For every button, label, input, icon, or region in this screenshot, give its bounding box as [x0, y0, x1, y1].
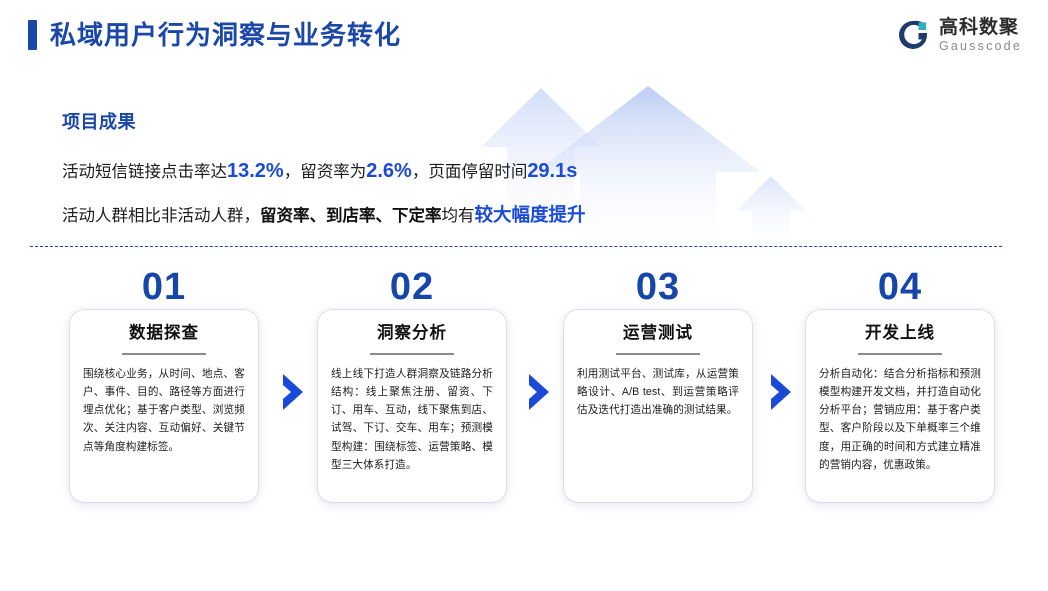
logo-text-block: 高科数聚 Gausscode — [939, 18, 1022, 53]
result-line-2-metrics: 留资率、到店率、下定率 — [260, 207, 442, 225]
step-rule-03 — [616, 353, 700, 355]
result-line-2-seg1: 活动人群相比非活动人群， — [62, 207, 260, 225]
step-card-body-04[interactable]: 开发上线 分析自动化：结合分析指标和预测模型构建开发文档，并打造自动化分析平台；… — [806, 310, 994, 502]
step-title-02: 洞察分析 — [331, 324, 493, 344]
result-line-2-seg2: 均有 — [442, 207, 475, 225]
slide-header: 私域用户行为洞察与业务转化 高科数聚 Gausscode — [0, 0, 1048, 76]
step-number-02: 02 — [318, 268, 506, 306]
metric-dwell-time: 29.1s — [527, 160, 577, 182]
chevron-right-icon-1 — [280, 372, 306, 412]
step-number-04: 04 — [806, 268, 994, 306]
step-title-01: 数据探查 — [83, 324, 245, 344]
process-steps: 01 数据探查 围绕核心业务，从时间、地点、客户、事件、目的、路径等方面进行埋点… — [0, 268, 1048, 518]
step-card-body-03[interactable]: 运营测试 利用测试平台、测试库，从运营策略设计、A/B test、到运营策略评估… — [564, 310, 752, 502]
result-line-1-seg1: 活动短信链接点击率达 — [62, 163, 227, 181]
step-description-02: 线上线下打造人群洞察及链路分析结构：线上聚焦注册、留资、下订、用车、互动，线下聚… — [331, 365, 493, 474]
section-divider — [30, 246, 1002, 247]
step-rule-02 — [370, 353, 454, 355]
logo-name-en: Gausscode — [939, 40, 1022, 53]
step-card-body-01[interactable]: 数据探查 围绕核心业务，从时间、地点、客户、事件、目的、路径等方面进行埋点优化；… — [70, 310, 258, 502]
step-title-04: 开发上线 — [819, 324, 981, 344]
step-card-body-02[interactable]: 洞察分析 线上线下打造人群洞察及链路分析结构：线上聚焦注册、留资、下订、用车、互… — [318, 310, 506, 502]
step-description-01: 围绕核心业务，从时间、地点、客户、事件、目的、路径等方面进行埋点优化；基于客户类… — [83, 365, 245, 456]
results-heading: 项目成果 — [62, 108, 762, 134]
step-rule-04 — [858, 353, 942, 355]
logo-name-cn: 高科数聚 — [939, 18, 1022, 37]
gausscode-logo-icon — [896, 18, 930, 52]
step-number-01: 01 — [70, 268, 258, 306]
result-line-2: 活动人群相比非活动人群，留资率、到店率、下定率均有较大幅度提升 — [62, 201, 762, 230]
slide-root: 私域用户行为洞察与业务转化 高科数聚 Gausscode 项目成果 活动短信链接… — [0, 0, 1048, 591]
title-bar-accent — [28, 20, 37, 50]
result-line-1: 活动短信链接点击率达13.2%，留资率为2.6%，页面停留时间29.1s — [62, 156, 762, 187]
chevron-right-icon-3 — [768, 372, 794, 412]
result-line-1-seg3: ，页面停留时间 — [412, 163, 528, 181]
slide-title-text: 私域用户行为洞察与业务转化 — [50, 22, 401, 48]
step-rule-01 — [122, 353, 206, 355]
step-number-03: 03 — [564, 268, 752, 306]
chevron-right-icon-2 — [526, 372, 552, 412]
project-results-block: 项目成果 活动短信链接点击率达13.2%，留资率为2.6%，页面停留时间29.1… — [62, 108, 762, 244]
metric-click-rate: 13.2% — [227, 160, 284, 182]
brand-logo: 高科数聚 Gausscode — [896, 18, 1022, 53]
step-description-04: 分析自动化：结合分析指标和预测模型构建开发文档，并打造自动化分析平台；营销应用：… — [819, 365, 981, 474]
step-description-03: 利用测试平台、测试库，从运营策略设计、A/B test、到运营策略评估及迭代打造… — [577, 365, 739, 420]
result-line-2-emphasis: 较大幅度提升 — [475, 204, 586, 225]
page-title: 私域用户行为洞察与业务转化 — [28, 20, 401, 50]
metric-lead-rate: 2.6% — [366, 160, 412, 182]
step-title-03: 运营测试 — [577, 324, 739, 344]
result-line-1-seg2: ，留资率为 — [284, 163, 367, 181]
